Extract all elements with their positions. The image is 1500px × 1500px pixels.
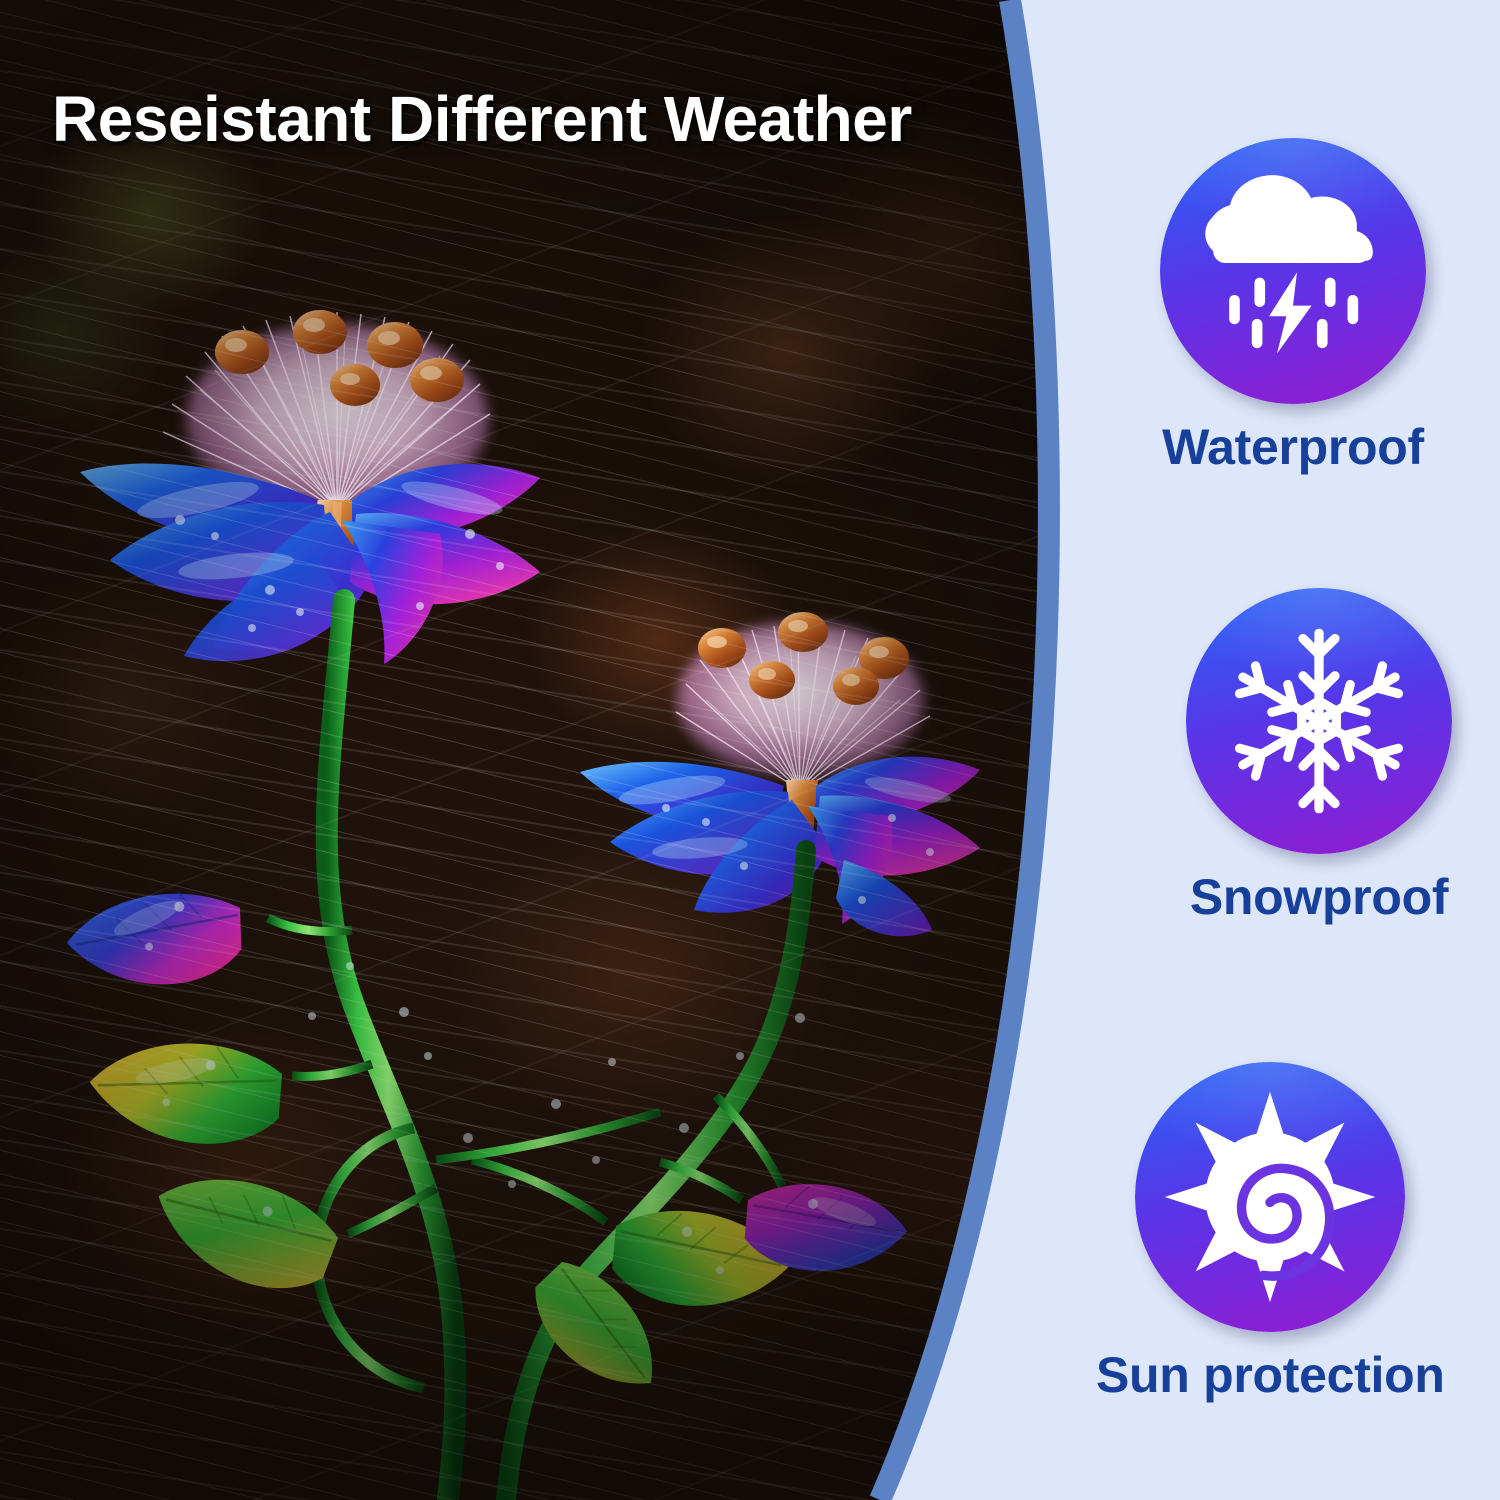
marketing-banner: Reseistant Different Weather — [0, 0, 1500, 1500]
feature-icon-badge — [1135, 1062, 1405, 1332]
feature-waterproof: Waterproof — [1160, 138, 1426, 476]
cloud-rain-lightning-icon — [1160, 138, 1426, 404]
feature-sun-protection: Sun protection — [1096, 1062, 1445, 1404]
feature-label: Waterproof — [1162, 418, 1424, 476]
feature-label: Snowproof — [1190, 868, 1448, 926]
sun-spiral-icon — [1135, 1062, 1405, 1332]
page-title: Reseistant Different Weather — [52, 82, 912, 156]
snowflake-icon — [1186, 588, 1452, 854]
feature-snowproof: Snowproof — [1186, 588, 1452, 926]
product-photo-panel — [0, 0, 1100, 1500]
feature-label: Sun protection — [1096, 1346, 1445, 1404]
feature-icon-badge — [1186, 588, 1452, 854]
feature-icon-badge — [1160, 138, 1426, 404]
photo-vignette — [0, 0, 1100, 1500]
